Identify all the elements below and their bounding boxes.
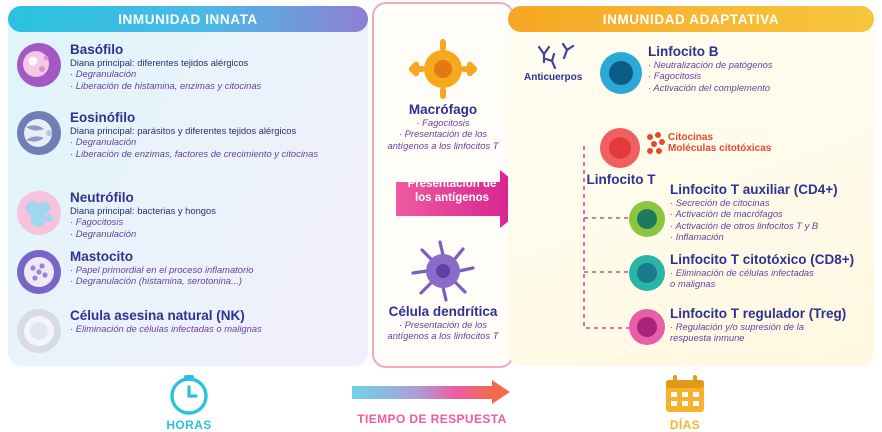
cd4-bullet-4: · Inflamación <box>670 231 876 242</box>
eosinophil-text: Eosinófilo Diana principal: parásitos y … <box>70 110 318 159</box>
cd4-cell-icon <box>628 200 666 238</box>
dendritic-bullet-2: antígenos a los linfocitos T <box>372 330 514 341</box>
cd8-name: Linfocito T citotóxico (CD8+) <box>670 252 876 267</box>
t-cell-secretions: Citocinas Moléculas citotóxicas <box>668 132 771 154</box>
nk-cell-name: Célula asesina natural (NK) <box>70 308 262 323</box>
arrow-label-line2: los antígenos <box>396 192 508 206</box>
macrophage-block: Macrófago · Fagocitosis · Presentación d… <box>372 38 514 151</box>
b-lymphocyte-bullet-3: · Activación del complemento <box>648 82 874 93</box>
eosinophil-name: Eosinófilo <box>70 110 318 125</box>
eosinophil-bullet-2: · Liberación de enzimas, factores de cre… <box>70 148 318 159</box>
innate-cell-row-nk: Célula asesina natural (NK) · Eliminació… <box>16 308 366 354</box>
adaptive-immunity-header: INMUNIDAD ADAPTATIVA <box>508 6 874 32</box>
innate-cell-row-neutrophil: Neutrófilo Diana principal: bacterias y … <box>16 190 366 239</box>
b-lymphocyte-name: Linfocito B <box>648 44 874 59</box>
neutrophil-name: Neutrófilo <box>70 190 216 205</box>
eosinophil-target: Diana principal: parásitos y diferentes … <box>70 125 318 136</box>
infographic-canvas: INMUNIDAD INNATA Basófilo Diana principa… <box>0 0 882 432</box>
mast-cell-bullet-1: · Papel primordial en el proceso inflama… <box>70 264 253 275</box>
mast-cell-icon <box>16 249 62 295</box>
cd4-block: Linfocito T auxiliar (CD4+) · Secreción … <box>670 182 876 243</box>
dendritic-block: Célula dendrítica · Presentación de los … <box>372 240 514 342</box>
treg-name: Linfocito T regulador (Treg) <box>670 306 876 321</box>
dendritic-name: Célula dendrítica <box>372 304 514 319</box>
cd4-bullet-3: · Activación de otros linfocitos T y B <box>670 220 876 231</box>
innate-cell-row-eosinophil: Eosinófilo Diana principal: parásitos y … <box>16 110 366 159</box>
neutrophil-bullet-1: · Fagocitosis <box>70 216 216 227</box>
arrow-label: Presentación de los antígenos <box>396 178 508 205</box>
hours-label: HORAS <box>166 418 212 432</box>
antibodies-group: Anticuerpos <box>524 42 590 83</box>
macrophage-bullet-3: antígenos a los linfocitos T <box>372 140 514 151</box>
response-time-label: TIEMPO DE RESPUESTA <box>352 412 512 426</box>
arrow-label-line1: Presentación de <box>396 178 508 192</box>
neutrophil-bullet-2: · Degranulación <box>70 228 216 239</box>
secretion-cytotoxic: Moléculas citotóxicas <box>668 143 771 154</box>
neutrophil-target: Diana principal: bacterias y hongos <box>70 205 216 216</box>
dendritic-bullet-1: · Presentación de los <box>372 319 514 330</box>
mast-cell-text: Mastocito · Papel primordial en el proce… <box>70 249 253 295</box>
cd4-bullet-2: · Activación de macrófagos <box>670 208 876 219</box>
b-lymphocyte-bullet-1: · Neutralización de patógenos <box>648 59 874 70</box>
dendritic-cell-icon <box>372 240 514 302</box>
antibodies-label: Anticuerpos <box>524 72 590 83</box>
cd4-name: Linfocito T auxiliar (CD4+) <box>670 182 876 197</box>
cd8-bullet-1: · Eliminación de células infectadas <box>670 267 876 278</box>
basophil-target: Diana principal: diferentes tejidos alér… <box>70 57 261 68</box>
macrophage-name: Macrófago <box>372 102 514 117</box>
basophil-text: Basófilo Diana principal: diferentes tej… <box>70 42 261 91</box>
basophil-bullet-2: · Liberación de histamina, enzimas y cit… <box>70 80 261 91</box>
innate-cell-row-mast: Mastocito · Papel primordial en el proce… <box>16 249 366 295</box>
macrophage-bullet-2: · Presentación de los <box>372 128 514 139</box>
macrophage-bullet-1: · Fagocitosis <box>372 117 514 128</box>
innate-cell-row-basophil: Basófilo Diana principal: diferentes tej… <box>16 42 366 91</box>
cd8-block: Linfocito T citotóxico (CD8+) · Eliminac… <box>670 252 876 290</box>
eosinophil-cell-icon <box>16 110 62 156</box>
b-lymphocyte-bullet-2: · Fagocitosis <box>648 70 874 81</box>
nk-cell-text: Célula asesina natural (NK) · Eliminació… <box>70 308 262 354</box>
mast-cell-name: Mastocito <box>70 249 253 264</box>
clock-icon <box>166 372 212 418</box>
calendar-icon <box>662 372 708 418</box>
innate-immunity-header: INMUNIDAD INNATA <box>8 6 368 32</box>
neutrophil-cell-icon <box>16 190 62 236</box>
neutrophil-text: Neutrófilo Diana principal: bacterias y … <box>70 190 216 239</box>
secretion-cytokines: Citocinas <box>668 132 771 143</box>
eosinophil-bullet-1: · Degranulación <box>70 136 318 147</box>
treg-bullet-1: · Regulación y/o supresión de la <box>670 321 876 332</box>
basophil-name: Basófilo <box>70 42 261 57</box>
basophil-bullet-1: · Degranulación <box>70 68 261 79</box>
cd8-cell-icon <box>628 254 666 292</box>
antibody-icon <box>524 42 590 70</box>
treg-block: Linfocito T regulador (Treg) · Regulació… <box>670 306 876 344</box>
b-lymphocyte-icon <box>598 50 644 96</box>
treg-cell-icon <box>628 308 666 346</box>
time-gradient-arrow-tip <box>492 380 510 404</box>
treg-bullet-2: respuesta inmune <box>670 332 876 343</box>
time-gradient-bar <box>352 386 492 399</box>
b-lymphocyte-block: Linfocito B · Neutralización de patógeno… <box>648 44 874 93</box>
cd4-bullet-1: · Secreción de citocinas <box>670 197 876 208</box>
basophil-cell-icon <box>16 42 62 88</box>
nk-cell-icon <box>16 308 62 354</box>
mast-cell-bullet-2: · Degranulación (histamina, serotonina..… <box>70 275 253 286</box>
days-label: DÍAS <box>662 418 708 432</box>
nk-cell-bullet-1: · Eliminación de células infectadas o ma… <box>70 323 262 334</box>
cd8-bullet-2: o malignas <box>670 278 876 289</box>
macrophage-icon <box>372 38 514 100</box>
